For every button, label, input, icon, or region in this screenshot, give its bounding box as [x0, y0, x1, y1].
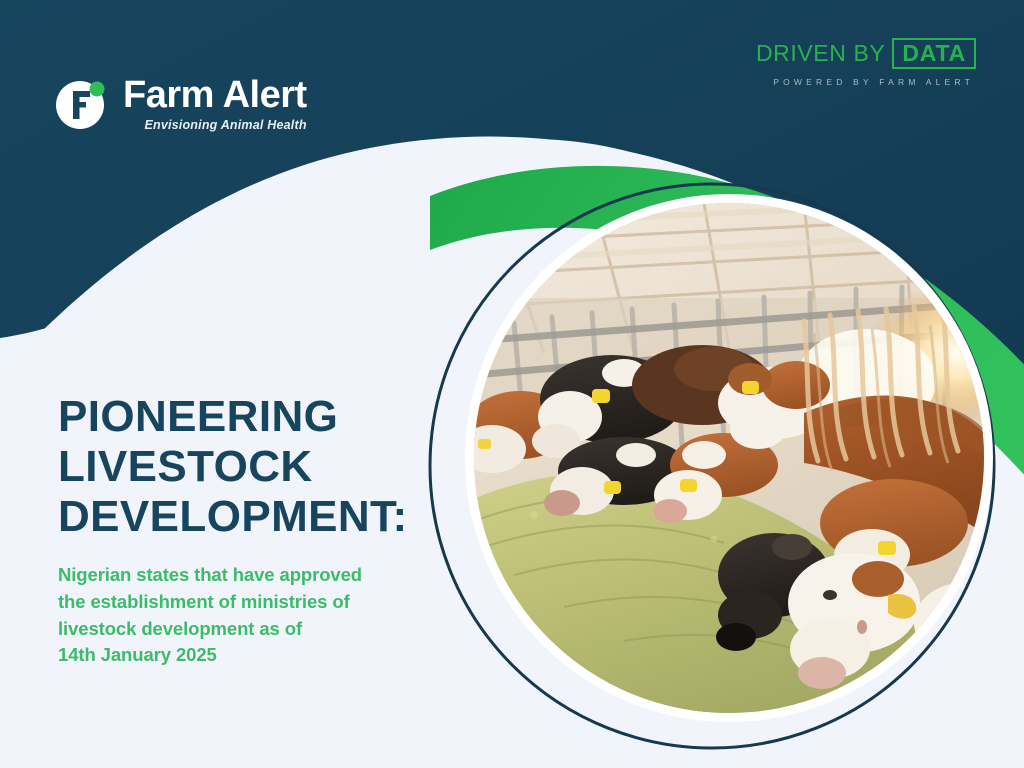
headline-line-2: LIVESTOCK — [58, 442, 488, 492]
headline-line-3: DEVELOPMENT: — [58, 492, 488, 542]
barn-scene-illustration — [474, 203, 984, 713]
driven-by-data-badge: DRIVEN BY DATA POWERED BY FARM ALERT — [756, 38, 976, 87]
subhead-line-3: livestock development as of — [58, 616, 478, 643]
subhead-line-2: the establishment of ministries of — [58, 589, 478, 616]
subhead-line-4: 14th January 2025 — [58, 642, 478, 669]
farm-alert-logo[interactable]: Farm Alert Envisioning Animal Health — [55, 76, 307, 132]
driven-by-data-row: DRIVEN BY DATA — [756, 38, 976, 69]
headline-line-1: PIONEERING — [58, 392, 488, 442]
circle-f-icon — [55, 77, 109, 131]
farm-alert-logo-mark — [55, 77, 109, 131]
dairy-cows-feeding-photo — [474, 203, 984, 713]
slide-canvas: Farm Alert Envisioning Animal Health DRI… — [0, 0, 1024, 768]
powered-by-label: POWERED BY FARM ALERT — [756, 77, 976, 87]
driven-by-label: DRIVEN BY — [756, 40, 885, 67]
logo-text-block: Farm Alert Envisioning Animal Health — [123, 76, 307, 132]
page-subtitle: Nigerian states that have approved the e… — [58, 562, 478, 669]
logo-title: Farm Alert — [123, 76, 307, 114]
subhead-line-1: Nigerian states that have approved — [58, 562, 478, 589]
data-boxed-word: DATA — [892, 38, 976, 69]
logo-tagline: Envisioning Animal Health — [144, 119, 306, 132]
page-title: PIONEERING LIVESTOCK DEVELOPMENT: — [58, 392, 488, 542]
